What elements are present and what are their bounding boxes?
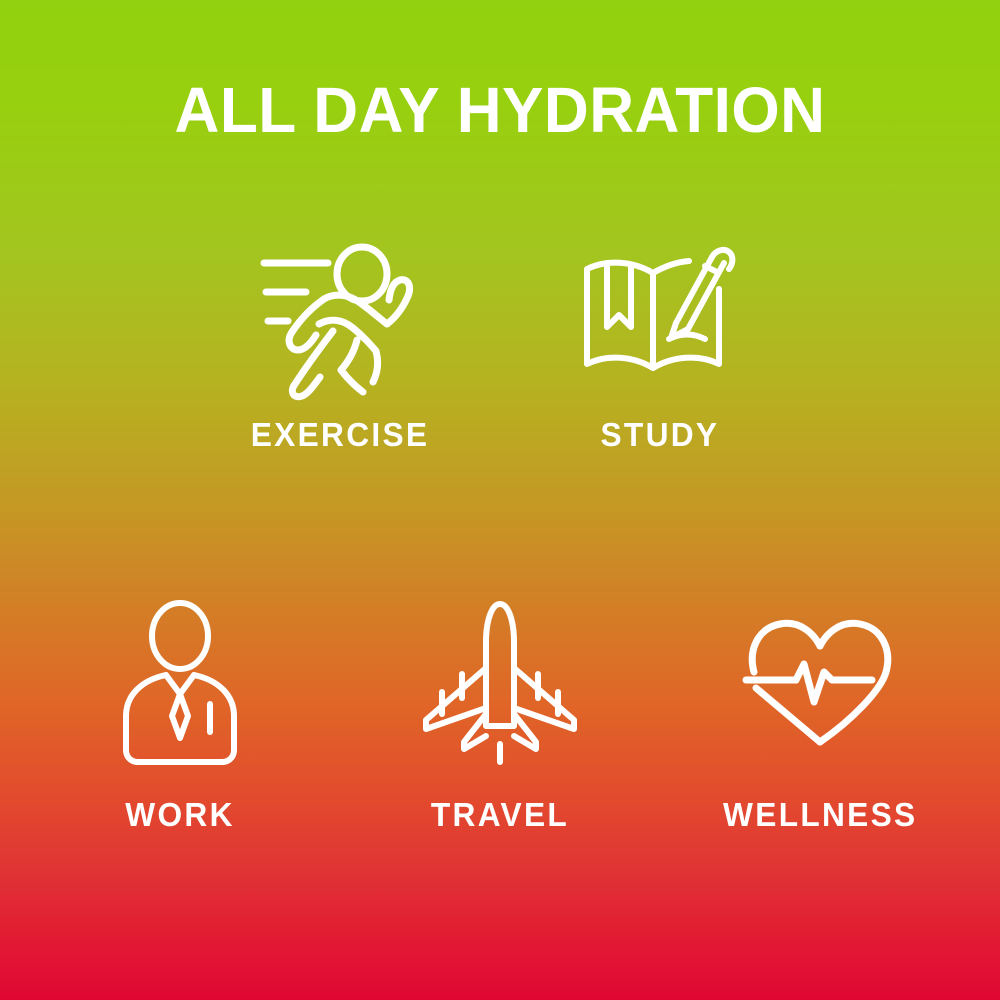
feature-row-bottom: WORK <box>0 596 1000 831</box>
feature-label-travel: TRAVEL <box>431 798 569 831</box>
businessperson-icon <box>90 596 270 768</box>
hydration-poster: ALL DAY HYDRATION <box>0 0 1000 1000</box>
heart-pulse-icon <box>730 596 910 768</box>
feature-item-work[interactable]: WORK <box>20 596 340 831</box>
feature-item-travel[interactable]: TRAVEL <box>340 596 660 831</box>
feature-label-wellness: WELLNESS <box>723 798 917 831</box>
feature-row-top: EXERCISE <box>0 236 1000 451</box>
feature-item-wellness[interactable]: WELLNESS <box>660 596 980 831</box>
open-book-pencil-icon <box>570 236 750 396</box>
airplane-icon <box>410 596 590 768</box>
page-title: ALL DAY HYDRATION <box>15 78 985 142</box>
feature-item-exercise[interactable]: EXERCISE <box>180 236 500 451</box>
feature-label-exercise: EXERCISE <box>251 418 430 451</box>
feature-label-study: STUDY <box>601 418 720 451</box>
feature-item-study[interactable]: STUDY <box>500 236 820 451</box>
running-person-icon <box>250 236 430 396</box>
feature-label-work: WORK <box>125 798 235 831</box>
